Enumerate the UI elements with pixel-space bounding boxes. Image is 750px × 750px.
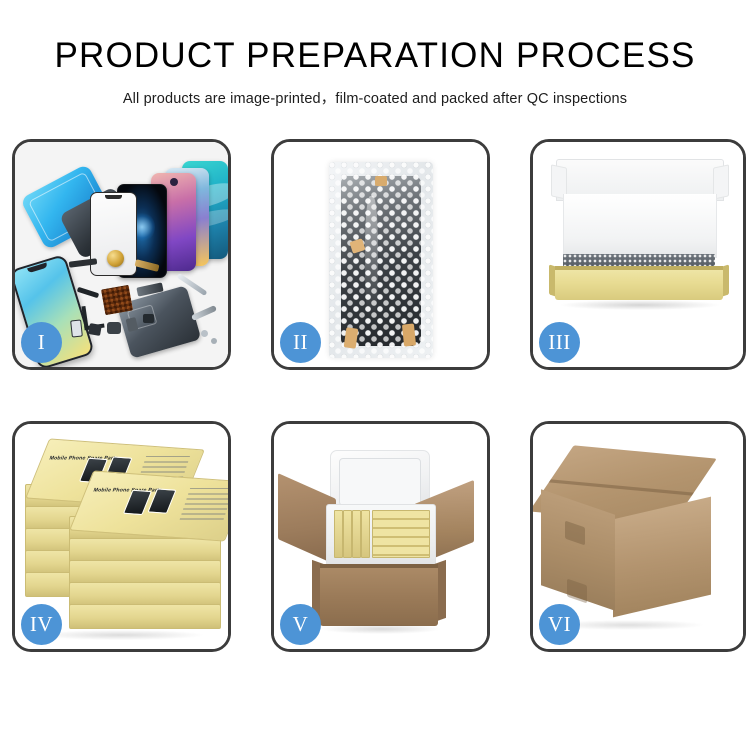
screw-2-icon bbox=[211, 338, 217, 344]
stacked-box-top: Mobile Phone Spare Parts bbox=[69, 470, 231, 541]
box-interior-back-icon bbox=[563, 194, 717, 258]
yellow-box-item bbox=[361, 510, 370, 558]
small-part-2-icon bbox=[88, 323, 102, 336]
process-step-4: Mobile Phone Spare Parts Mobile Phone Sp… bbox=[12, 421, 231, 652]
box-label-text: Mobile Phone Spare Parts bbox=[92, 487, 163, 493]
box-front-panel-icon bbox=[555, 268, 723, 300]
process-step-3: III bbox=[530, 139, 746, 370]
bubble-wrap-bag-icon bbox=[329, 162, 433, 358]
chip-board-icon bbox=[101, 285, 133, 315]
process-step-2: II bbox=[271, 139, 490, 370]
small-part-3-icon bbox=[107, 322, 121, 334]
stack-shadow bbox=[39, 630, 203, 640]
box-stack-icon: Mobile Phone Spare Parts Mobile Phone Sp… bbox=[23, 444, 223, 634]
process-step-1: I bbox=[12, 139, 231, 370]
small-part-5-icon bbox=[143, 314, 154, 323]
process-step-5: V bbox=[271, 421, 490, 652]
tape-piece-4-icon bbox=[402, 323, 416, 346]
tape-piece-1-icon bbox=[375, 176, 387, 186]
carton-front-icon bbox=[320, 564, 438, 626]
step-badge-2: II bbox=[280, 322, 321, 363]
bubble-texture bbox=[329, 162, 433, 358]
carton-shadow bbox=[322, 624, 440, 634]
step-badge-3: III bbox=[539, 322, 580, 363]
page-subtitle: All products are image-printed，film-coat… bbox=[0, 87, 750, 108]
stacked-box-side bbox=[69, 604, 221, 629]
small-part-1-icon bbox=[70, 319, 83, 337]
process-step-grid: I II bbox=[12, 139, 745, 652]
yellow-box-item bbox=[334, 510, 343, 558]
screw-1-icon bbox=[201, 330, 208, 337]
yellow-box-item bbox=[343, 510, 352, 558]
step-badge-4: IV bbox=[21, 604, 62, 645]
speaker-component-icon bbox=[107, 250, 124, 267]
step-badge-6: VI bbox=[539, 604, 580, 645]
box-shadow bbox=[561, 300, 719, 310]
box-top-edge-icon bbox=[555, 266, 723, 270]
yellow-box-stack bbox=[372, 510, 430, 558]
step-badge-5: V bbox=[280, 604, 321, 645]
yellow-box-item bbox=[352, 510, 361, 558]
step-badge-1: I bbox=[21, 322, 62, 363]
page-header: PRODUCT PREPARATION PROCESS All products… bbox=[0, 0, 750, 108]
box-label-text: Mobile Phone Spare Parts bbox=[48, 455, 119, 461]
box-label-spec-lines bbox=[179, 488, 231, 520]
process-step-6: VI bbox=[530, 421, 746, 652]
page-title: PRODUCT PREPARATION PROCESS bbox=[0, 36, 750, 76]
